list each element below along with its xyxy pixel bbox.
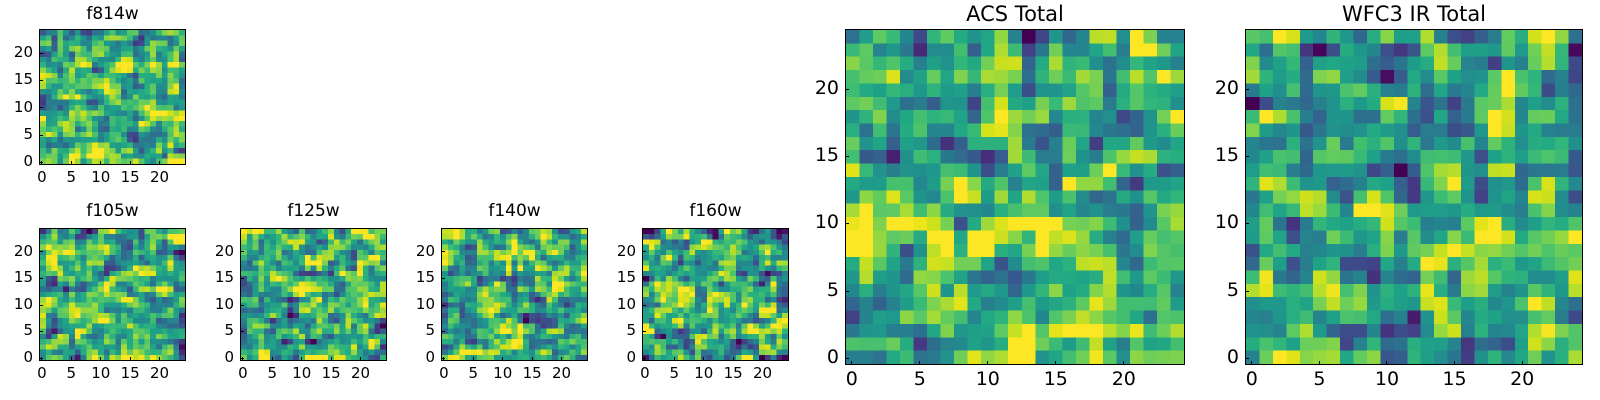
xtick-label-f105w-0: 0 — [12, 366, 72, 381]
heatmap-axes-f105w[interactable] — [39, 228, 186, 361]
ytick-label-f814w-4: 20 — [0, 45, 33, 60]
xtick-label-f160w-2: 10 — [674, 366, 734, 381]
heatmap-axes-f160w[interactable] — [642, 228, 789, 361]
heatmap-image-wfc3-ir-total — [1246, 30, 1582, 364]
xtick-label-wfc3-ir-total-0: 0 — [1222, 370, 1282, 389]
panel-title-f814w: f814w — [39, 6, 186, 23]
heatmap-axes-f125w[interactable] — [240, 228, 387, 361]
xtick-label-f160w-0: 0 — [615, 366, 675, 381]
ytick-label-wfc3-ir-total-2: 10 — [1179, 213, 1239, 232]
ytick-label-f105w-4: 20 — [0, 244, 33, 259]
xtick-label-f125w-0: 0 — [213, 366, 273, 381]
xtick-label-f125w-4: 20 — [331, 366, 391, 381]
heatmap-axes-wfc3-ir-total[interactable] — [1245, 29, 1583, 365]
xtick-label-wfc3-ir-total-3: 15 — [1425, 370, 1485, 389]
ytick-label-f105w-2: 10 — [0, 297, 33, 312]
xtick-label-wfc3-ir-total-4: 20 — [1492, 370, 1552, 389]
xtick-label-acs-total-2: 10 — [958, 370, 1018, 389]
xtick-label-f105w-3: 15 — [100, 366, 160, 381]
xtick-label-f160w-1: 5 — [644, 366, 704, 381]
xtick-label-f140w-4: 20 — [532, 366, 592, 381]
ytick-label-f105w-3: 15 — [0, 270, 33, 285]
xtick-label-f105w-2: 10 — [71, 366, 131, 381]
xtick-label-f814w-4: 20 — [130, 170, 190, 185]
ytick-label-f814w-2: 10 — [0, 100, 33, 115]
xtick-label-f140w-3: 15 — [502, 366, 562, 381]
panel-title-f140w: f140w — [441, 203, 588, 220]
heatmap-image-f160w — [643, 229, 788, 360]
heatmap-image-f140w — [442, 229, 587, 360]
ytick-label-f814w-3: 15 — [0, 72, 33, 87]
xtick-label-f140w-1: 5 — [443, 366, 503, 381]
xtick-label-f160w-4: 20 — [733, 366, 793, 381]
xtick-label-f814w-2: 10 — [71, 170, 131, 185]
xtick-label-wfc3-ir-total-2: 10 — [1357, 370, 1417, 389]
heatmap-axes-acs-total[interactable] — [845, 29, 1185, 365]
panel-title-f160w: f160w — [642, 203, 789, 220]
ytick-label-f814w-0: 0 — [0, 154, 33, 169]
xtick-label-f140w-0: 0 — [414, 366, 474, 381]
panel-title-acs-total: ACS Total — [845, 4, 1185, 25]
ytick-label-wfc3-ir-total-1: 5 — [1179, 281, 1239, 300]
ytick-label-f105w-0: 0 — [0, 350, 33, 365]
xtick-label-f125w-1: 5 — [242, 366, 302, 381]
xtick-label-acs-total-4: 20 — [1094, 370, 1154, 389]
xtick-label-f125w-3: 15 — [301, 366, 361, 381]
heatmap-image-f125w — [241, 229, 386, 360]
xtick-label-f125w-2: 10 — [272, 366, 332, 381]
ytick-label-f105w-1: 5 — [0, 323, 33, 338]
xtick-label-acs-total-3: 15 — [1026, 370, 1086, 389]
heatmap-image-f105w — [40, 229, 185, 360]
ytick-label-f814w-1: 5 — [0, 127, 33, 142]
xtick-label-f140w-2: 10 — [473, 366, 533, 381]
heatmap-axes-f140w[interactable] — [441, 228, 588, 361]
ytick-label-acs-total-4: 20 — [779, 79, 839, 98]
heatmap-image-f814w — [40, 30, 185, 164]
panel-title-f125w: f125w — [240, 203, 387, 220]
panel-title-wfc3-ir-total: WFC3 IR Total — [1245, 4, 1583, 25]
xtick-label-acs-total-0: 0 — [822, 370, 882, 389]
ytick-label-wfc3-ir-total-3: 15 — [1179, 146, 1239, 165]
xtick-label-f105w-4: 20 — [130, 366, 190, 381]
xtick-label-acs-total-1: 5 — [890, 370, 950, 389]
ytick-label-wfc3-ir-total-4: 20 — [1179, 79, 1239, 98]
xtick-label-wfc3-ir-total-1: 5 — [1289, 370, 1349, 389]
ytick-label-wfc3-ir-total-0: 0 — [1179, 348, 1239, 367]
xtick-label-f160w-3: 15 — [703, 366, 763, 381]
xtick-label-f105w-1: 5 — [41, 366, 101, 381]
ytick-label-acs-total-3: 15 — [779, 146, 839, 165]
xtick-label-f814w-1: 5 — [41, 170, 101, 185]
heatmap-image-acs-total — [846, 30, 1184, 364]
xtick-label-f814w-0: 0 — [12, 170, 72, 185]
heatmap-axes-f814w[interactable] — [39, 29, 186, 165]
xtick-label-f814w-3: 15 — [100, 170, 160, 185]
panel-title-f105w: f105w — [39, 203, 186, 220]
